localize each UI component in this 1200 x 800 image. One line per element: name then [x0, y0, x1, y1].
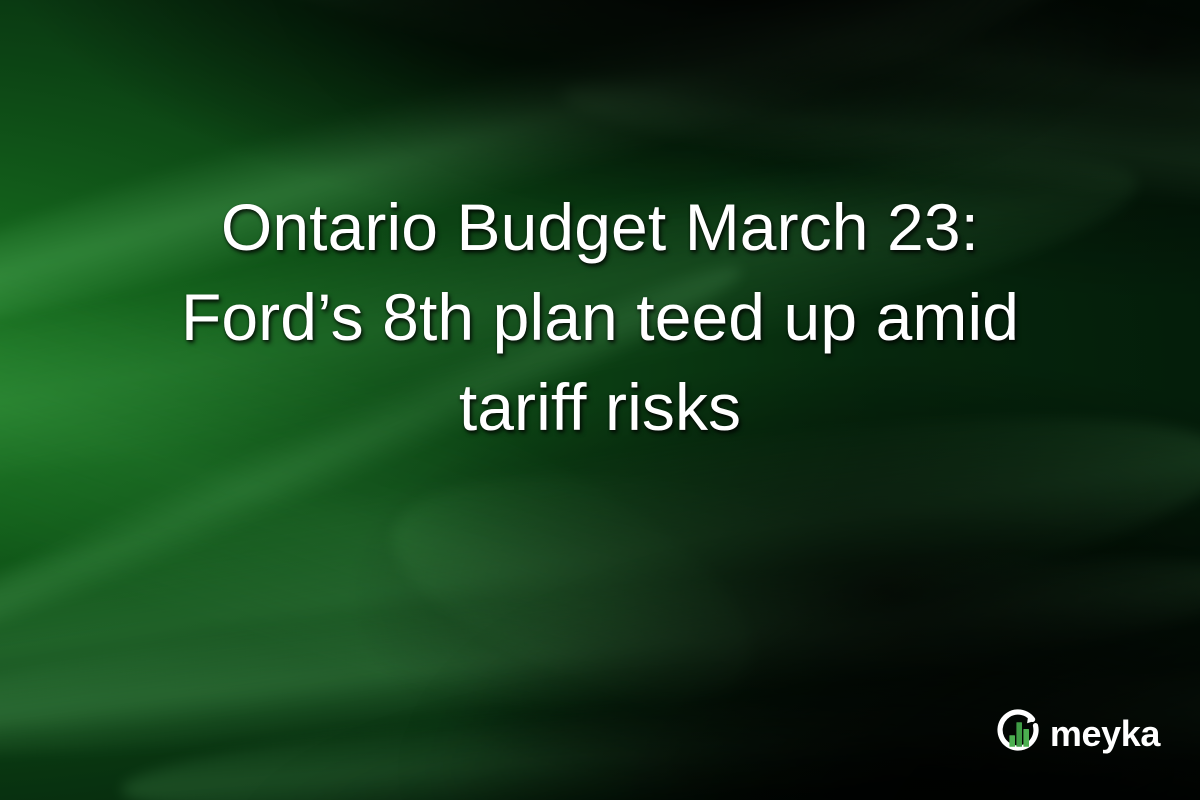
title-line-1: Ontario Budget March 23:: [58, 182, 1142, 272]
title-line-3: tariff risks: [58, 362, 1142, 452]
meyka-bar-chart-circle-icon: [994, 708, 1044, 758]
brand-wordmark: meyka: [1050, 716, 1160, 752]
page-title: Ontario Budget March 23: Ford’s 8th plan…: [0, 182, 1200, 452]
dark-crescent: [430, 560, 1200, 800]
brand-logo[interactable]: meyka: [994, 708, 1160, 758]
social-card: Ontario Budget March 23: Ford’s 8th plan…: [0, 0, 1200, 800]
title-line-2: Ford’s 8th plan teed up amid: [58, 272, 1142, 362]
dark-crescent: [300, 0, 1120, 180]
